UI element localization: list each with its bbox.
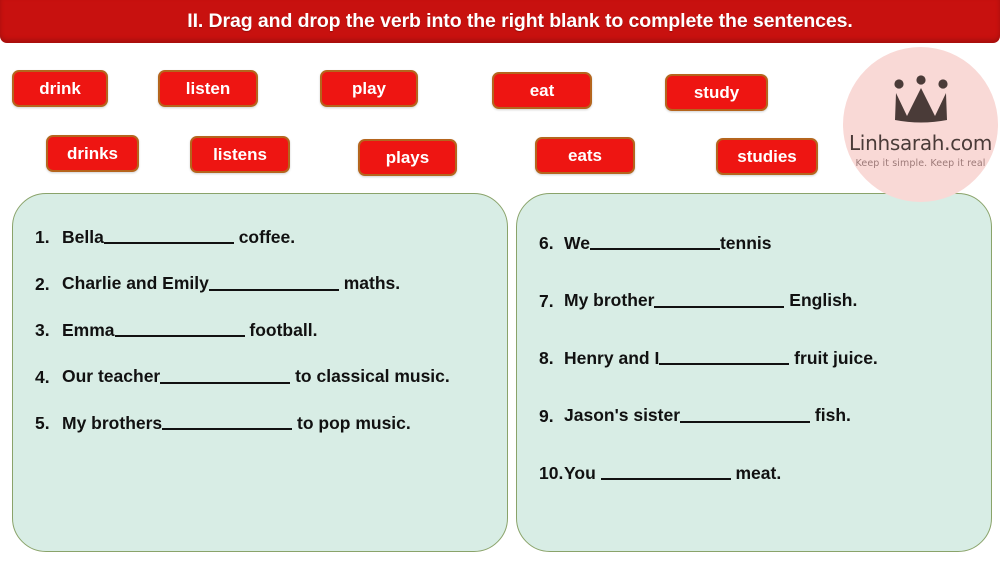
sentence-prefix: Bella bbox=[62, 227, 104, 247]
word-chip-eats[interactable]: eats bbox=[535, 137, 635, 174]
sentence-text: Emma football. bbox=[62, 319, 487, 341]
sentence-suffix: to classical music. bbox=[290, 367, 450, 387]
sentence-text: Our teacher to classical music. bbox=[62, 365, 487, 387]
answer-blank[interactable] bbox=[104, 226, 234, 244]
sentence-item: 10.You meat. bbox=[539, 462, 973, 484]
answer-blank[interactable] bbox=[162, 412, 292, 430]
sentence-number: 2. bbox=[35, 273, 62, 295]
sentence-item: 7.My brother English. bbox=[539, 289, 973, 311]
sentence-prefix: Charlie and Emily bbox=[62, 274, 209, 294]
sentence-item: 1.Bella coffee. bbox=[35, 226, 487, 248]
word-chip-listens[interactable]: listens bbox=[190, 136, 290, 173]
sentence-suffix: coffee. bbox=[234, 227, 295, 247]
sentence-item: 4.Our teacher to classical music. bbox=[35, 365, 487, 387]
sentence-suffix: to pop music. bbox=[292, 413, 411, 433]
sentence-text: Jason's sister fish. bbox=[564, 404, 973, 426]
answer-blank[interactable] bbox=[115, 319, 245, 337]
sentence-number: 8. bbox=[539, 347, 564, 369]
sentence-suffix: tennis bbox=[720, 233, 772, 253]
sentence-item: 8.Henry and I fruit juice. bbox=[539, 347, 973, 369]
word-chip-plays[interactable]: plays bbox=[358, 139, 457, 176]
sentence-prefix: Henry and I bbox=[564, 348, 659, 368]
sentence-item: 6.Wetennis bbox=[539, 232, 973, 254]
word-chip-eat[interactable]: eat bbox=[492, 72, 592, 109]
logo-badge: Linhsarah.com Keep it simple. Keep it re… bbox=[843, 47, 998, 202]
sentence-suffix: meat. bbox=[731, 463, 782, 483]
sentence-number: 3. bbox=[35, 319, 62, 341]
sentence-item: 5.My brothers to pop music. bbox=[35, 412, 487, 434]
sentence-number: 9. bbox=[539, 405, 564, 427]
header-banner: II. Drag and drop the verb into the righ… bbox=[0, 0, 1000, 43]
sentence-list-right: 6.Wetennis7.My brother English.8.Henry a… bbox=[517, 194, 991, 551]
word-chip-drinks[interactable]: drinks bbox=[46, 135, 139, 172]
answer-blank[interactable] bbox=[590, 232, 720, 250]
sentence-suffix: English. bbox=[784, 291, 857, 311]
sentence-prefix: You bbox=[564, 463, 601, 483]
sentence-number: 1. bbox=[35, 226, 62, 248]
sentence-suffix: fish. bbox=[810, 406, 851, 426]
sentence-text: You meat. bbox=[564, 462, 973, 484]
page-title: II. Drag and drop the verb into the righ… bbox=[187, 10, 852, 33]
sentence-text: Henry and I fruit juice. bbox=[564, 347, 973, 369]
answer-blank[interactable] bbox=[209, 272, 339, 290]
sentence-text: Charlie and Emily maths. bbox=[62, 272, 487, 294]
sentence-prefix: Our teacher bbox=[62, 367, 160, 387]
sentence-item: 9.Jason's sister fish. bbox=[539, 404, 973, 426]
sentence-item: 2.Charlie and Emily maths. bbox=[35, 272, 487, 294]
sentence-suffix: maths. bbox=[339, 274, 400, 294]
word-chip-listen[interactable]: listen bbox=[158, 70, 258, 107]
sentence-number: 6. bbox=[539, 232, 564, 254]
sentence-number: 7. bbox=[539, 290, 564, 312]
sentence-panel-right: 6.Wetennis7.My brother English.8.Henry a… bbox=[516, 193, 992, 552]
sentence-number: 5. bbox=[35, 412, 62, 434]
logo-tagline: Keep it simple. Keep it real bbox=[856, 158, 986, 169]
sentence-prefix: My brothers bbox=[62, 413, 162, 433]
word-chip-study[interactable]: study bbox=[665, 74, 768, 111]
word-chip-play[interactable]: play bbox=[320, 70, 418, 107]
sentence-prefix: Emma bbox=[62, 320, 115, 340]
answer-blank[interactable] bbox=[601, 462, 731, 480]
answer-blank[interactable] bbox=[680, 404, 810, 422]
word-chip-drink[interactable]: drink bbox=[12, 70, 108, 107]
sentence-text: Wetennis bbox=[564, 232, 973, 254]
sentence-number: 4. bbox=[35, 366, 62, 388]
answer-blank[interactable] bbox=[659, 347, 789, 365]
sentence-list-left: 1.Bella coffee.2.Charlie and Emily maths… bbox=[13, 194, 507, 551]
sentence-text: My brothers to pop music. bbox=[62, 412, 487, 434]
sentence-prefix: Jason's sister bbox=[564, 406, 680, 426]
sentence-suffix: football. bbox=[245, 320, 318, 340]
sentence-panel-left: 1.Bella coffee.2.Charlie and Emily maths… bbox=[12, 193, 508, 552]
sentence-text: My brother English. bbox=[564, 289, 973, 311]
crown-icon bbox=[890, 75, 952, 125]
answer-blank[interactable] bbox=[654, 289, 784, 307]
sentence-suffix: fruit juice. bbox=[789, 348, 877, 368]
word-chip-studies[interactable]: studies bbox=[716, 138, 818, 175]
logo-name: Linhsarah.com bbox=[849, 131, 992, 155]
sentence-number: 10. bbox=[539, 462, 564, 484]
sentence-prefix: We bbox=[564, 233, 590, 253]
sentence-prefix: My brother bbox=[564, 291, 654, 311]
sentence-item: 3.Emma football. bbox=[35, 319, 487, 341]
sentence-text: Bella coffee. bbox=[62, 226, 487, 248]
answer-blank[interactable] bbox=[160, 365, 290, 383]
